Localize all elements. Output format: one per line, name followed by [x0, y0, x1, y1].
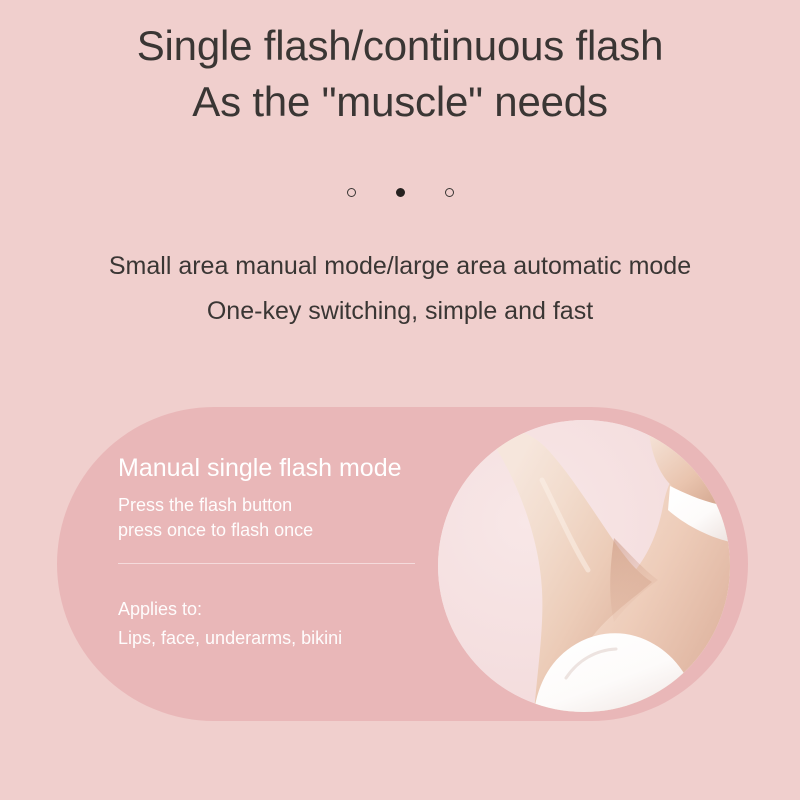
- subheadline: Small area manual mode/large area automa…: [0, 244, 800, 334]
- headline-line-1: Single flash/continuous flash: [0, 18, 800, 74]
- subheadline-line-2: One-key switching, simple and fast: [0, 289, 800, 334]
- applies-block: Applies to: Lips, face, underarms, bikin…: [118, 595, 498, 653]
- headline-line-2: As the "muscle" needs: [0, 74, 800, 130]
- promo-page: Single flash/continuous flash As the "mu…: [0, 0, 800, 800]
- page-title: Single flash/continuous flash As the "mu…: [0, 18, 800, 130]
- applies-value: Lips, face, underarms, bikini: [118, 624, 498, 653]
- card-divider: [118, 563, 415, 564]
- card-content: Manual single flash mode Press the flash…: [118, 451, 498, 653]
- carousel-dot-2-active[interactable]: [396, 188, 405, 197]
- carousel-dot-3[interactable]: [445, 188, 454, 197]
- carousel-dots[interactable]: [0, 188, 800, 197]
- card-description-line-1: Press the flash button: [118, 493, 498, 518]
- carousel-dot-1[interactable]: [347, 188, 356, 197]
- applies-label: Applies to:: [118, 595, 498, 624]
- card-description-line-2: press once to flash once: [118, 518, 498, 543]
- card-title: Manual single flash mode: [118, 451, 498, 485]
- feature-card: Manual single flash mode Press the flash…: [57, 407, 748, 721]
- subheadline-line-1: Small area manual mode/large area automa…: [0, 244, 800, 289]
